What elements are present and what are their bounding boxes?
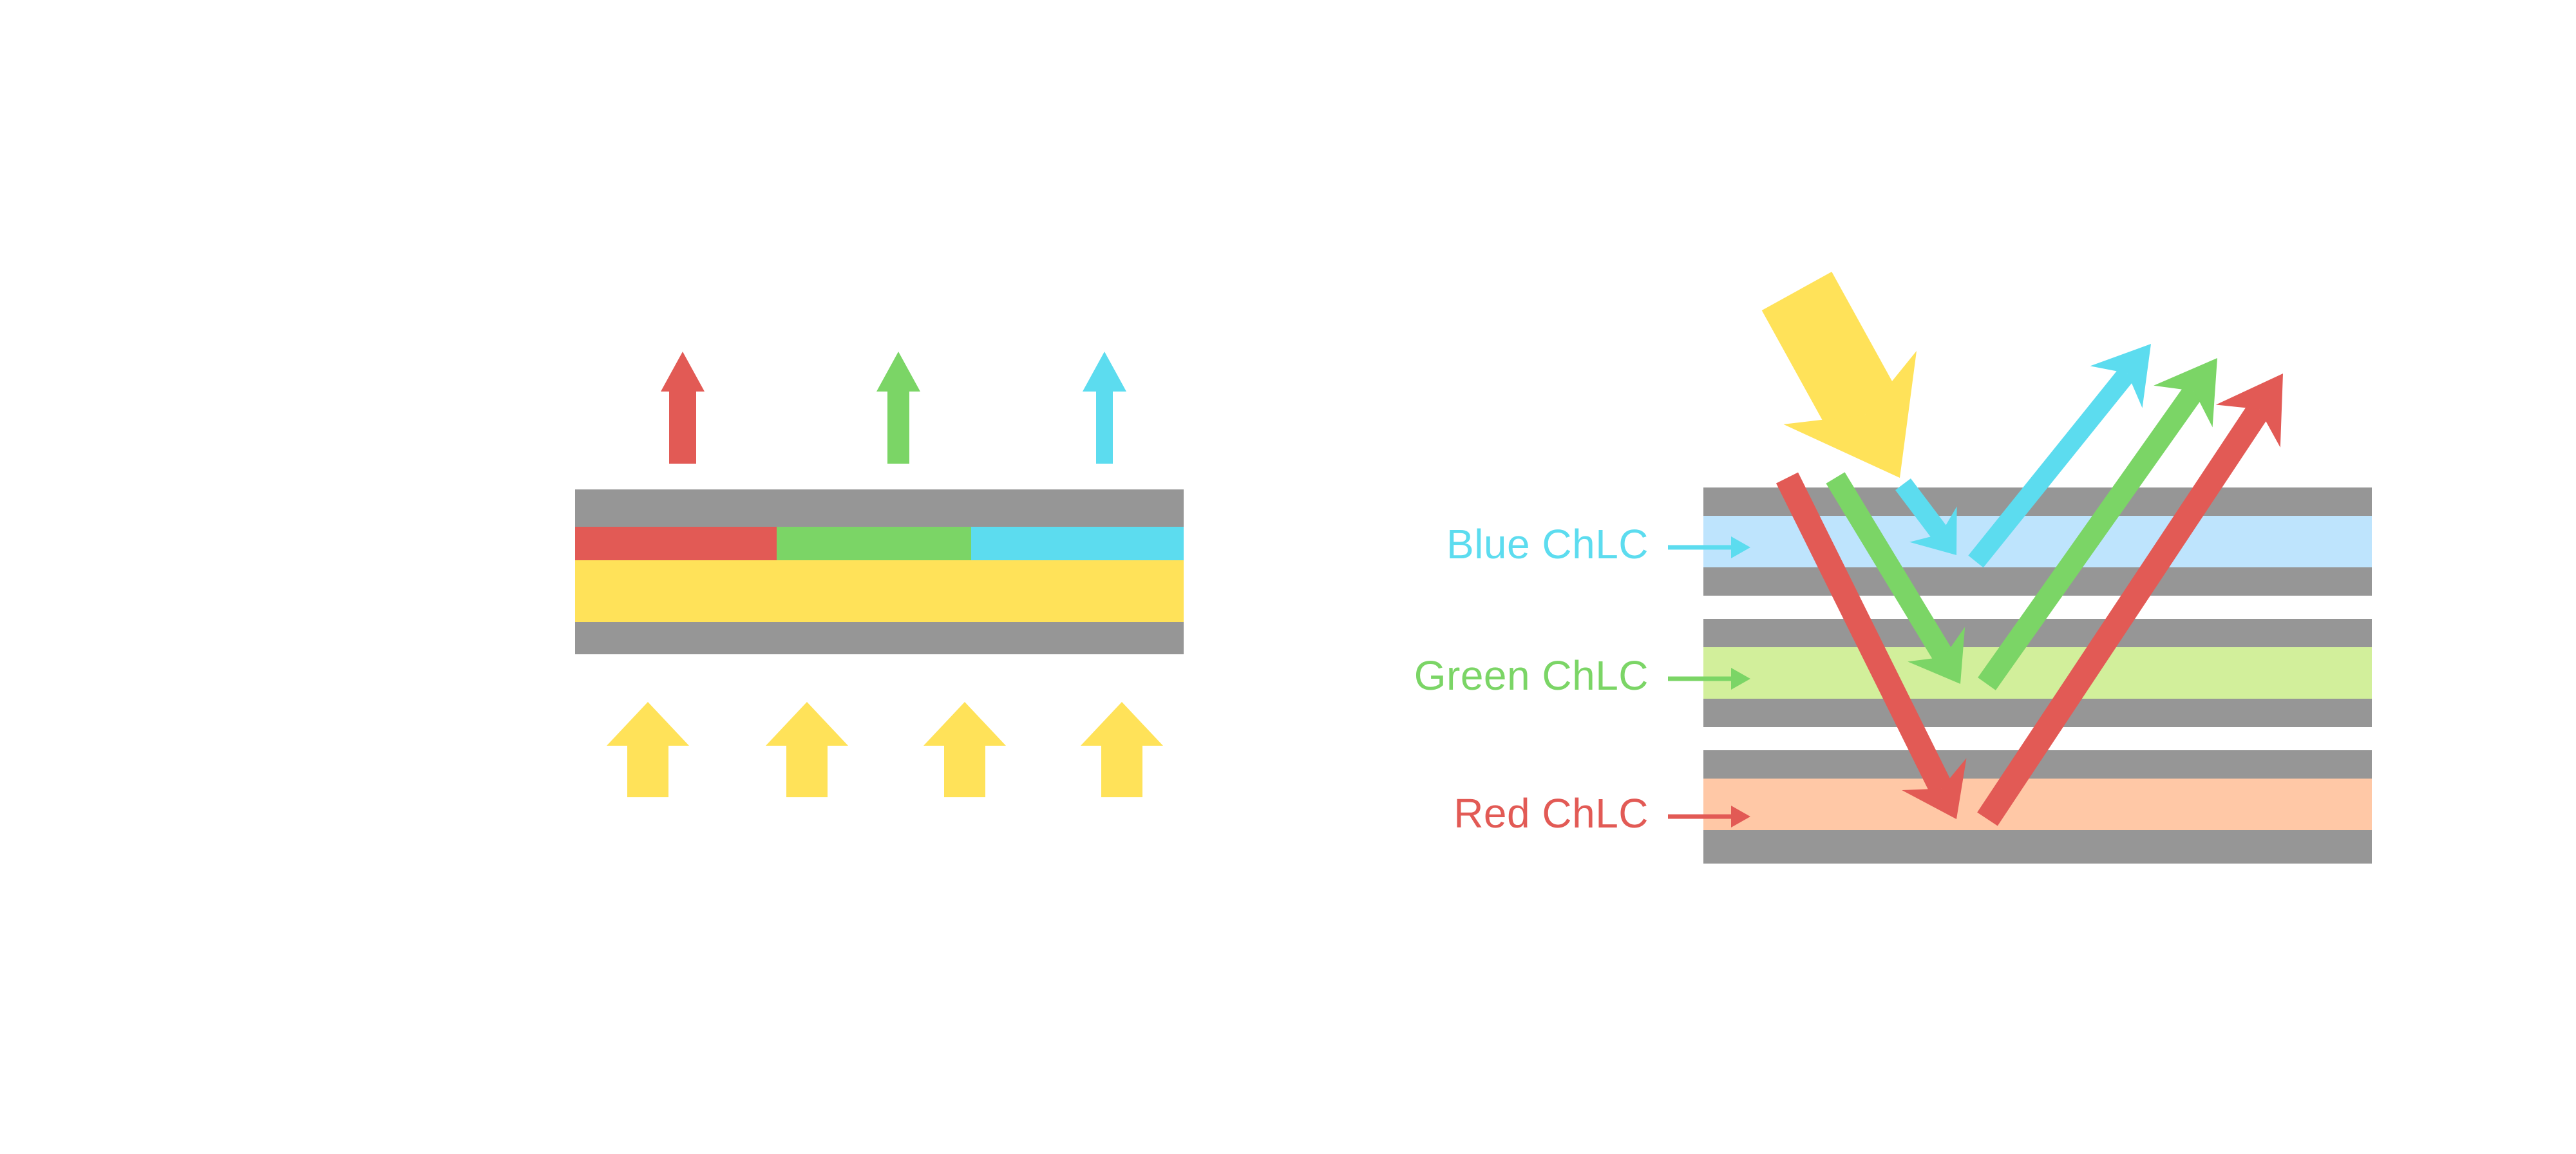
green-chlc-label-text: Green ChLC [1414, 652, 1649, 699]
color-filter-layer [575, 527, 1184, 560]
blue-cell-bottom-electrode [1703, 567, 2372, 596]
left-panel-transmissive-stack [575, 352, 1184, 797]
backlight-arrow-2-head [766, 702, 848, 746]
backlight-arrows [607, 702, 1163, 797]
green-filter-segment [777, 527, 971, 560]
blue-emission-arrow-shaft [1096, 392, 1113, 464]
ambient-light-arrow [1762, 272, 1917, 478]
blue-emission-arrow-head [1083, 352, 1126, 392]
backlight-arrow-4 [1081, 702, 1163, 797]
right-panel-reflective-stack: Blue ChLCGreen ChLCRed ChLC [1414, 272, 2372, 864]
backlight-arrow-4-shaft [1101, 746, 1142, 797]
emitted-light-arrows [661, 352, 1126, 464]
diagram-canvas: Blue ChLCGreen ChLCRed ChLC [0, 0, 2576, 1154]
red-filter-segment [575, 527, 777, 560]
backlight-arrow-2-shaft [786, 746, 828, 797]
backlight-arrow-4-head [1081, 702, 1163, 746]
backlight-arrow-1-shaft [627, 746, 668, 797]
backlight-arrow-3 [923, 702, 1006, 797]
chlc-layer-labels: Blue ChLCGreen ChLCRed ChLC [1414, 521, 1750, 837]
green-chlc-layer [1703, 647, 2372, 699]
chlc-display-diagram: Blue ChLCGreen ChLCRed ChLC [0, 0, 2576, 1154]
bottom-electrode-layer [575, 622, 1184, 654]
blue-emission-arrow [1083, 352, 1126, 464]
chlc-stack-bands [1703, 487, 2372, 864]
blue-filter-segment [971, 527, 1184, 560]
green-emission-arrow [876, 352, 920, 464]
red-emission-arrow-shaft [669, 392, 696, 464]
backlight-arrow-1-head [607, 702, 689, 746]
red-chlc-layer [1703, 779, 2372, 830]
backlight-arrow-3-shaft [944, 746, 985, 797]
backlight-arrow-2 [766, 702, 848, 797]
red-cell-bottom-electrode [1703, 830, 2372, 864]
backlight-arrow-1 [607, 702, 689, 797]
left-stack-layers [575, 489, 1184, 654]
green-emission-arrow-head [876, 352, 920, 392]
backlight-layer [575, 560, 1184, 622]
green-emission-arrow-shaft [887, 392, 909, 464]
red-emission-arrow-head [661, 352, 705, 392]
red-chlc-label-text: Red ChLC [1454, 790, 1649, 837]
backlight-arrow-3-head [923, 702, 1006, 746]
ambient-light-arrow [1762, 272, 1917, 478]
blue-chlc-label-text: Blue ChLC [1446, 521, 1649, 567]
red-emission-arrow [661, 352, 705, 464]
green-chlc-label: Green ChLC [1414, 652, 1750, 699]
top-electrode-layer [575, 489, 1184, 527]
